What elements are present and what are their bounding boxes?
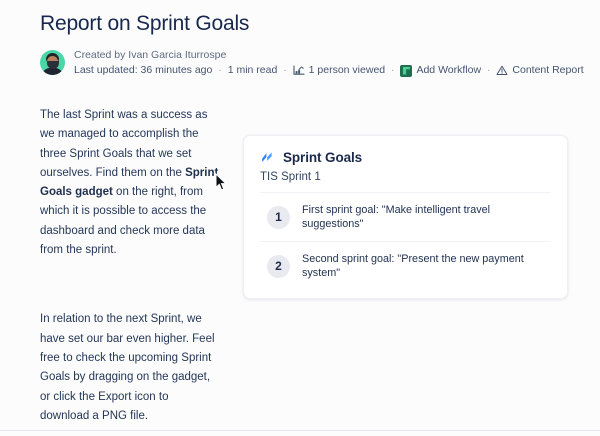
paragraph-1-text-start: The last Sprint was a success as we mana… bbox=[40, 109, 207, 179]
content-report-button[interactable]: Content Report bbox=[496, 63, 583, 78]
page-title: Report on Sprint Goals bbox=[40, 12, 249, 36]
created-by-label: Created by Ivan Garcia Iturrospe bbox=[74, 48, 584, 62]
avatar-body bbox=[42, 68, 63, 75]
footer-divider bbox=[0, 430, 600, 431]
meta-separator: · bbox=[391, 63, 394, 78]
list-item[interactable]: 1 First sprint goal: "Make intelligent t… bbox=[260, 192, 551, 241]
content-report-label: Content Report bbox=[512, 63, 583, 78]
goal-number-badge: 2 bbox=[267, 255, 290, 278]
add-workflow-button[interactable]: Add Workflow bbox=[400, 63, 481, 78]
viewed-count[interactable]: 1 person viewed bbox=[293, 63, 385, 78]
workflow-green-icon bbox=[400, 65, 412, 77]
goal-text: Second sprint goal: "Present the new pay… bbox=[302, 252, 551, 280]
meta-separator: · bbox=[487, 63, 490, 78]
document-byline: Created by Ivan Garcia Iturrospe Last up… bbox=[40, 48, 584, 78]
gadget-header: Sprint Goals bbox=[260, 150, 551, 165]
last-updated-label: Last updated: 36 minutes ago bbox=[74, 63, 212, 78]
avatar[interactable] bbox=[40, 50, 65, 75]
goal-text: First sprint goal: "Make intelligent tra… bbox=[302, 203, 551, 231]
page-root: Report on Sprint Goals Created by Ivan G… bbox=[0, 0, 600, 436]
meta-separator: · bbox=[218, 63, 221, 78]
document-body: The last Sprint was a success as we mana… bbox=[40, 106, 220, 426]
warning-triangle-icon bbox=[496, 65, 508, 76]
gadget-title: Sprint Goals bbox=[283, 150, 362, 165]
byline-lines: Created by Ivan Garcia Iturrospe Last up… bbox=[74, 48, 584, 78]
sprint-arrows-icon bbox=[260, 151, 275, 165]
chart-bar-icon bbox=[293, 65, 305, 76]
gadget-subtitle: TIS Sprint 1 bbox=[260, 171, 551, 183]
list-item[interactable]: 2 Second sprint goal: "Present the new p… bbox=[260, 241, 551, 290]
viewed-label: 1 person viewed bbox=[309, 63, 385, 78]
goal-number-badge: 1 bbox=[267, 206, 290, 229]
document-meta-row: Last updated: 36 minutes ago · 1 min rea… bbox=[74, 63, 584, 78]
sprint-goals-gadget[interactable]: Sprint Goals TIS Sprint 1 1 First sprint… bbox=[243, 135, 568, 299]
meta-separator: · bbox=[283, 63, 286, 78]
read-time-label: 1 min read bbox=[228, 63, 278, 78]
add-workflow-label: Add Workflow bbox=[416, 63, 481, 78]
paragraph-1: The last Sprint was a success as we mana… bbox=[40, 106, 220, 260]
paragraph-2: In relation to the next Sprint, we have … bbox=[40, 310, 220, 426]
